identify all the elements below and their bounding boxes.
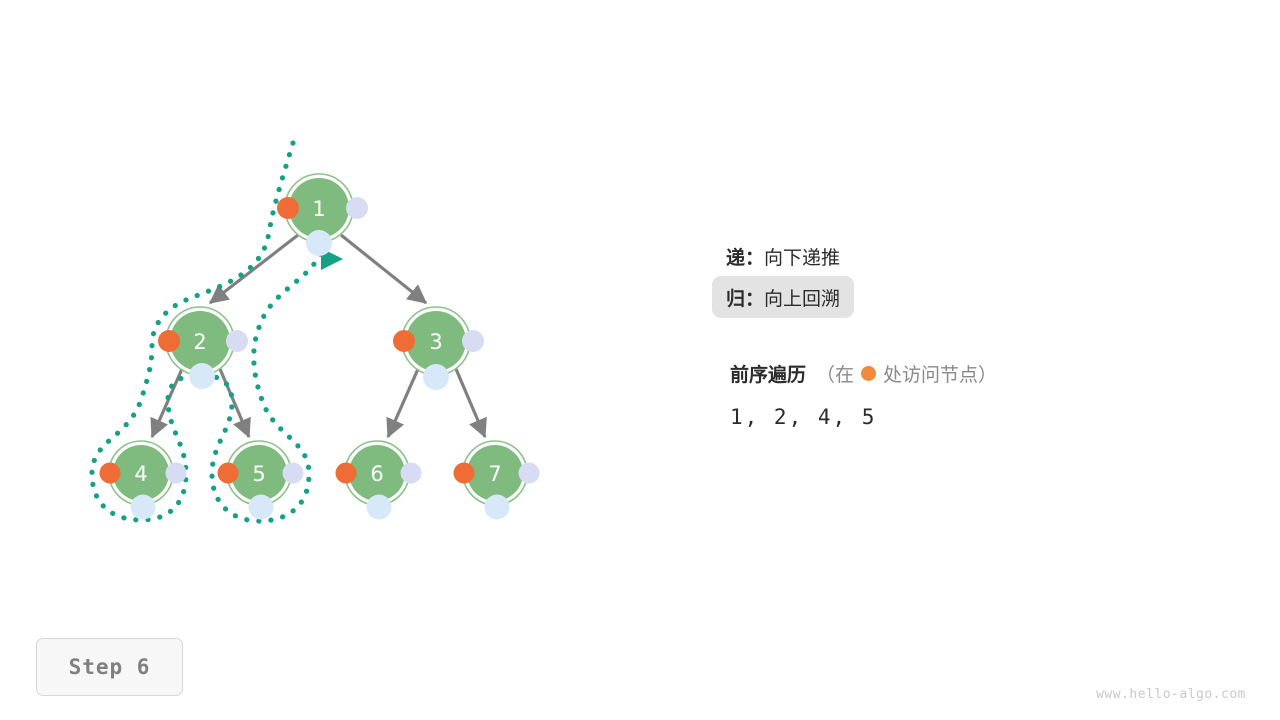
traversal-title: 前序遍历 （在 处访问节点） [730,360,1250,387]
tree-node-2[interactable]: 2 [158,307,248,389]
node-6-orange-dot [336,463,357,484]
edge-1-3 [341,235,426,303]
edge-2-5 [220,369,249,437]
node-5-orange-dot [218,463,239,484]
node-1-label: 1 [312,197,325,221]
edge-2-4 [152,369,182,437]
legend-highlight-wrap: 归： 向上回溯 [726,276,1246,318]
edge-3-7 [456,369,485,437]
node-7-lightblue-dot [485,495,510,520]
node-1-lavender-dot [346,197,368,219]
node-5-lavender-dot [283,463,304,484]
step-badge: Step 6 [36,638,183,696]
watermark: www.hello-algo.com [1096,687,1246,702]
legend-row-descend: 递： 向下递推 [726,236,1246,276]
traversal-note-close: 处访问节点） [883,360,997,387]
legend-return-desc: 向上回溯 [764,284,840,311]
node-2-label: 2 [193,330,206,354]
node-2-lightblue-dot [189,363,215,389]
node-6-lightblue-dot [367,495,392,520]
node-6-lavender-dot [401,463,422,484]
edge-3-6 [388,369,418,437]
tree-node-5[interactable]: 5 [218,441,304,520]
node-3-label: 3 [429,330,442,354]
node-2-lavender-dot [226,330,248,352]
tree-node-4[interactable]: 4 [100,441,187,520]
traversal-name: 前序遍历 [730,360,806,387]
node-3-lightblue-dot [423,364,449,390]
traversal-values: 1, 2, 4, 5 [730,405,1250,429]
node-5-label: 5 [252,462,265,486]
node-3-lavender-dot [462,330,484,352]
node-6-label: 6 [370,462,383,486]
node-2-orange-dot [158,330,180,352]
node-3-orange-dot [393,330,415,352]
tree-node-3[interactable]: 3 [393,307,484,390]
legend-return-term: 归： [726,284,764,311]
traversal-result-block: 前序遍历 （在 处访问节点） 1, 2, 4, 5 [730,360,1250,429]
tree-node-6[interactable]: 6 [336,441,422,520]
node-1-orange-dot [277,197,299,219]
node-7-label: 7 [488,462,501,486]
node-1-lightblue-dot [306,230,332,256]
orange-dot-icon [861,366,876,381]
node-5-lightblue-dot [249,495,274,520]
legend-descend-term: 递： [726,243,764,270]
node-7-lavender-dot [519,463,540,484]
node-4-label: 4 [134,462,147,486]
node-7-orange-dot [454,463,475,484]
node-4-lightblue-dot [131,495,156,520]
traversal-note-open: （在 [816,360,854,387]
legend-descend-desc: 向下递推 [764,243,840,270]
node-4-orange-dot [100,463,121,484]
recursion-legend: 递： 向下递推 归： 向上回溯 [726,236,1246,318]
tree-node-7[interactable]: 7 [454,441,540,520]
edge-1-2 [210,235,298,303]
node-4-lavender-dot [166,463,187,484]
legend-row-return: 归： 向上回溯 [712,276,854,318]
